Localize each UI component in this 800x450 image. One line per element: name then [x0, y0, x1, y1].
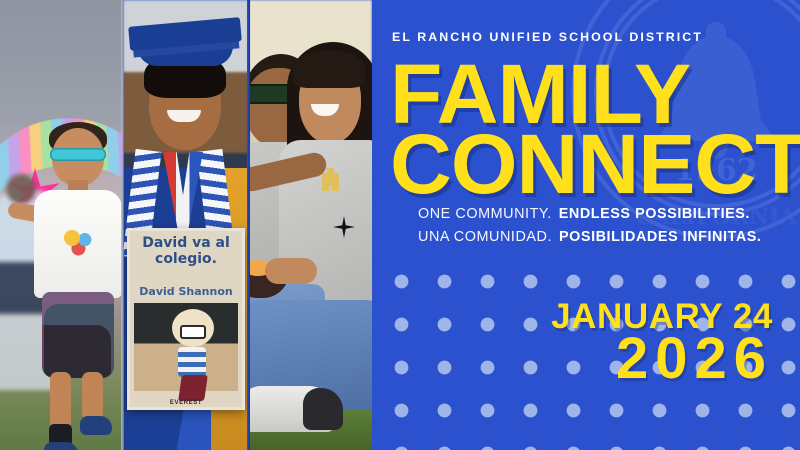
tagline-english-soft: ONE COMMUNITY.: [418, 206, 552, 222]
photo-divider-2: [247, 0, 250, 450]
book-publisher: EVEREST: [130, 400, 242, 406]
info-panel: Pico Rivera 1962 CALIFORNIA EL RANCHO UN…: [372, 0, 800, 450]
tagline-english-bold: ENDLESS POSSIBILITIES.: [559, 206, 750, 222]
boy-shorts: [42, 292, 114, 378]
daughter-hand: [265, 258, 317, 284]
page-title-line-2: CONNECT: [390, 122, 800, 206]
tagline-spanish: UNA COMUNIDAD.POSIBILIDADES INFINITAS.: [418, 229, 761, 245]
boy-left-leg: [50, 372, 71, 430]
book-title-line-2: colegio.: [130, 251, 242, 267]
tagline-spanish-soft: UNA COMUNIDAD.: [418, 229, 552, 245]
photo-divider-1: [121, 0, 124, 450]
book-character-shirt: [178, 347, 206, 377]
event-date-year: 2026: [616, 328, 773, 390]
sneaker-right: [303, 388, 343, 430]
boy-right-shoe: [80, 416, 112, 435]
photo-mother-and-daughter: [249, 0, 372, 450]
book-character-shorts: [178, 375, 208, 401]
boy-left-shoe: [44, 442, 78, 450]
book-title-line-1: David va al: [130, 235, 242, 251]
book-character-mouth: [180, 325, 206, 339]
running-boy: [30, 128, 123, 450]
sunglasses-icon: [50, 148, 106, 161]
tagline-spanish-bold: POSIBILIDADES INFINITAS.: [559, 229, 761, 245]
daughter-hair-front: [293, 50, 365, 88]
tshirt-graphic: [60, 226, 100, 260]
book-title: David va al colegio.: [130, 235, 242, 267]
book-author: David Shannon: [130, 285, 242, 298]
book-cover-illustration: [134, 303, 238, 391]
boy-tshirt: [34, 190, 122, 298]
cross-necklace-icon: [327, 168, 334, 186]
picture-book-cover: David va al colegio. David Shannon EVERE…: [127, 228, 245, 410]
district-name: EL RANCHO UNIFIED SCHOOL DISTRICT: [392, 30, 703, 44]
photo-graduate-with-book: David va al colegio. David Shannon EVERE…: [123, 0, 249, 450]
boy-right-leg: [82, 372, 103, 420]
tagline-english: ONE COMMUNITY.ENDLESS POSSIBILITIES.: [418, 206, 750, 222]
photo-color-run-student: [0, 0, 123, 450]
family-connect-flyer: David va al colegio. David Shannon EVERE…: [0, 0, 800, 450]
